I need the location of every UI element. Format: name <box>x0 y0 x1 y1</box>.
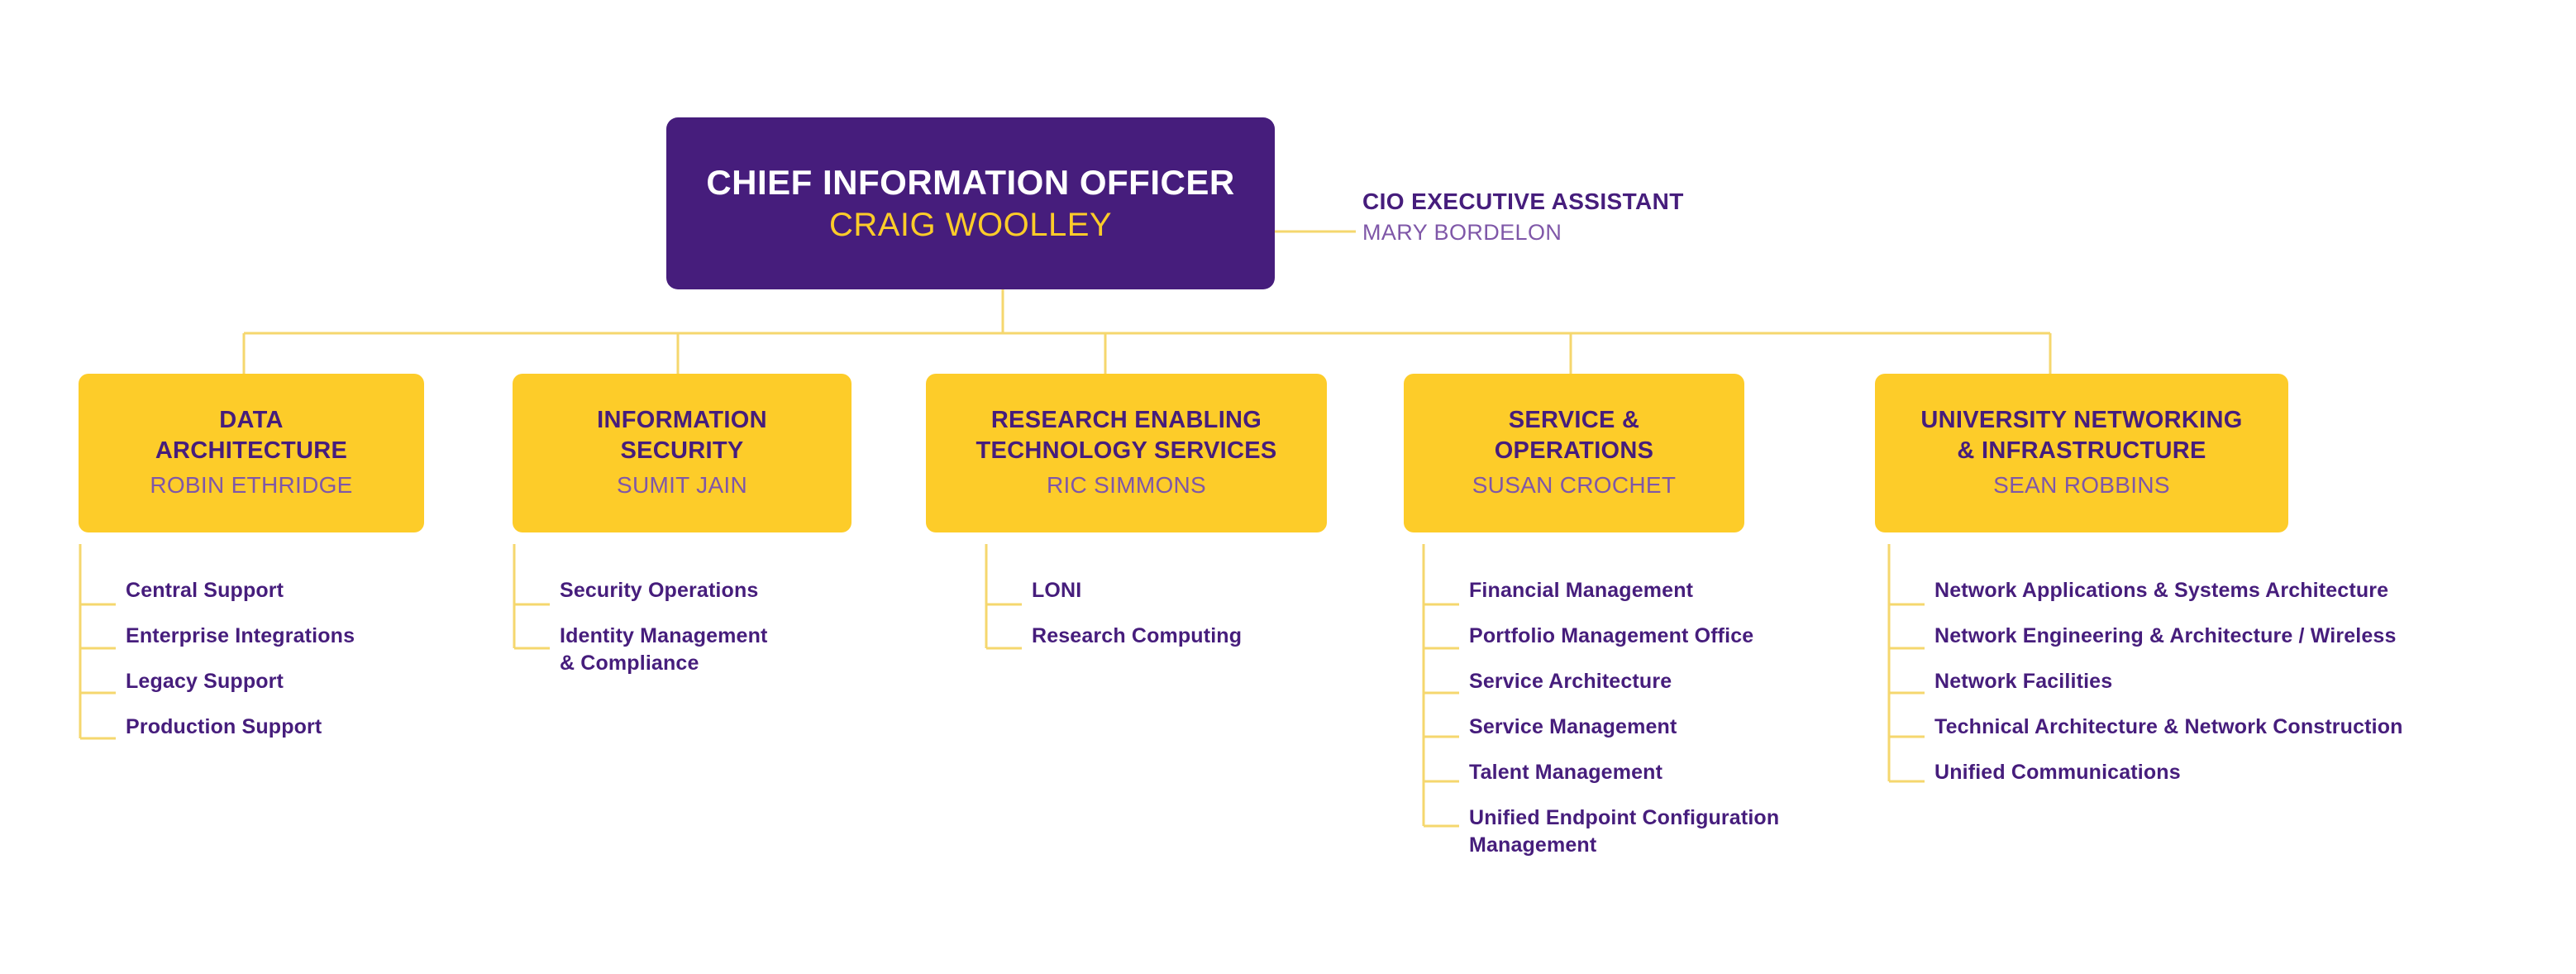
division-title: SERVICE & OPERATIONS <box>1495 405 1654 466</box>
division-person-name: ROBIN ETHRIDGE <box>150 470 352 500</box>
list-item[interactable]: Service Architecture <box>1469 668 1858 695</box>
division-title: INFORMATION SECURITY <box>597 405 767 466</box>
node-data-architecture[interactable]: DATA ARCHITECTURE ROBIN ETHRIDGE <box>79 374 424 532</box>
list-item[interactable]: Production Support <box>126 714 473 741</box>
division-title: RESEARCH ENABLING TECHNOLOGY SERVICES <box>976 405 1277 466</box>
list-item[interactable]: Research Computing <box>1032 623 1387 650</box>
list-item[interactable]: Talent Management <box>1469 759 1858 786</box>
root-title: CHIEF INFORMATION OFFICER <box>706 163 1234 202</box>
list-item[interactable]: Portfolio Management Office <box>1469 623 1858 650</box>
division-box[interactable]: UNIVERSITY NETWORKING & INFRASTRUCTURE S… <box>1875 374 2288 532</box>
list-item[interactable]: Unified Communications <box>1934 759 2530 786</box>
node-university-networking-and-infrastructure[interactable]: UNIVERSITY NETWORKING & INFRASTRUCTURE S… <box>1875 374 2288 532</box>
sub-list-research-enabling: LONI Research Computing <box>1032 577 1387 668</box>
list-item[interactable]: Legacy Support <box>126 668 473 695</box>
division-person-name: SUSAN CROCHET <box>1472 470 1677 500</box>
sub-list-information-security: Security Operations Identity Management … <box>560 577 915 695</box>
node-information-security[interactable]: INFORMATION SECURITY SUMIT JAIN <box>513 374 852 532</box>
list-item[interactable]: Network Facilities <box>1934 668 2530 695</box>
division-person-name: SEAN ROBBINS <box>1993 470 2170 500</box>
list-item[interactable]: Financial Management <box>1469 577 1858 604</box>
division-box[interactable]: SERVICE & OPERATIONS SUSAN CROCHET <box>1404 374 1744 532</box>
list-item[interactable]: Central Support <box>126 577 473 604</box>
sub-list-data-architecture: Central Support Enterprise Integrations … <box>126 577 473 759</box>
sub-list-university-networking: Network Applications & Systems Architect… <box>1934 577 2530 805</box>
node-service-and-operations[interactable]: SERVICE & OPERATIONS SUSAN CROCHET <box>1404 374 1744 532</box>
division-person-name: RIC SIMMONS <box>1047 470 1206 500</box>
list-item[interactable]: Security Operations <box>560 577 915 604</box>
list-item[interactable]: Enterprise Integrations <box>126 623 473 650</box>
division-box[interactable]: RESEARCH ENABLING TECHNOLOGY SERVICES RI… <box>926 374 1327 532</box>
list-item[interactable]: Network Applications & Systems Architect… <box>1934 577 2530 604</box>
division-person-name: SUMIT JAIN <box>617 470 747 500</box>
division-title: DATA ARCHITECTURE <box>155 405 347 466</box>
list-item[interactable]: Network Engineering & Architecture / Wir… <box>1934 623 2530 650</box>
division-box[interactable]: DATA ARCHITECTURE ROBIN ETHRIDGE <box>79 374 424 532</box>
list-item[interactable]: Identity Management & Compliance <box>560 623 915 677</box>
node-research-enabling-technology-services[interactable]: RESEARCH ENABLING TECHNOLOGY SERVICES RI… <box>926 374 1327 532</box>
sub-list-service-and-operations: Financial Management Portfolio Managemen… <box>1469 577 1858 877</box>
list-item[interactable]: Technical Architecture & Network Constru… <box>1934 714 2530 741</box>
list-item[interactable]: Unified Endpoint Configuration Managemen… <box>1469 805 1858 859</box>
node-cio-executive-assistant[interactable]: CIO EXECUTIVE ASSISTANT MARY BORDELON <box>1362 187 1825 247</box>
org-chart: CHIEF INFORMATION OFFICER CRAIG WOOLLEY … <box>0 0 2576 974</box>
list-item[interactable]: Service Management <box>1469 714 1858 741</box>
division-title: UNIVERSITY NETWORKING & INFRASTRUCTURE <box>1920 405 2242 466</box>
assistant-title: CIO EXECUTIVE ASSISTANT <box>1362 187 1825 217</box>
node-chief-information-officer[interactable]: CHIEF INFORMATION OFFICER CRAIG WOOLLEY <box>666 117 1275 289</box>
list-item[interactable]: LONI <box>1032 577 1387 604</box>
division-box[interactable]: INFORMATION SECURITY SUMIT JAIN <box>513 374 852 532</box>
assistant-person-name: MARY BORDELON <box>1362 218 1825 247</box>
root-person-name: CRAIG WOOLLEY <box>829 207 1112 244</box>
